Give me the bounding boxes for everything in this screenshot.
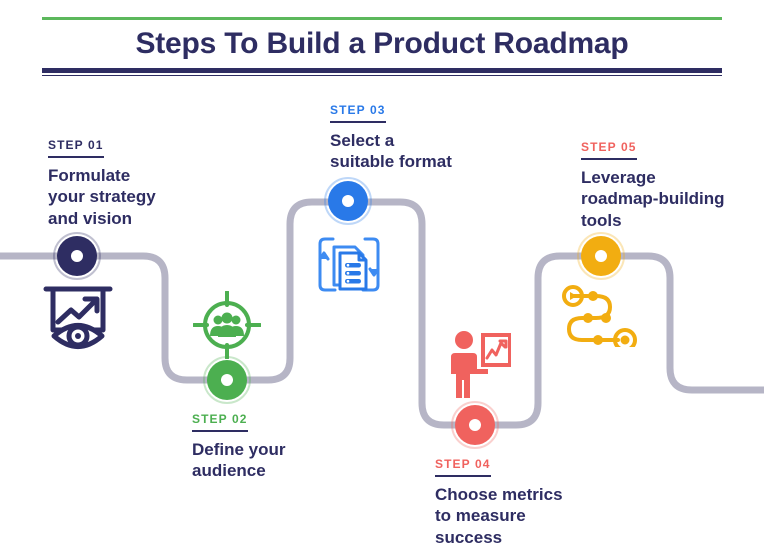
step-02-title: Define your audience <box>192 439 332 482</box>
step-01-node-ring <box>53 232 101 280</box>
step-01-title: Formulate your strategy and vision <box>48 165 178 229</box>
step-05-text-block: STEP 05 Leverage roadmap-building tools <box>581 140 751 231</box>
person-metrics-chart-icon <box>447 330 511 402</box>
step-02-node-ring <box>203 356 251 404</box>
step-04-text-block: STEP 04 Choose metrics to measure succes… <box>435 457 595 548</box>
step-02-kicker: STEP 02 <box>192 412 332 426</box>
step-03-kicker: STEP 03 <box>330 103 490 117</box>
step-02-text-block: STEP 02 Define your audience <box>192 412 332 482</box>
step-03-node[interactable] <box>328 181 368 221</box>
step-01-text-block: STEP 01 Formulate your strategy and visi… <box>48 138 178 229</box>
roadmap-path-tools-icon <box>562 285 642 347</box>
step-03-text-block: STEP 03 Select a suitable format <box>330 103 490 173</box>
step-02-node[interactable] <box>207 360 247 400</box>
step-04-kicker: STEP 04 <box>435 457 595 471</box>
step-05-kicker-underline <box>581 158 637 160</box>
step-01-kicker-underline <box>48 156 104 158</box>
documents-format-cycle-icon <box>315 233 383 301</box>
step-04-kicker-underline <box>435 475 491 477</box>
step-03-title: Select a suitable format <box>330 130 490 173</box>
infographic-canvas: Steps To Build a Product Roadmap STEP 01… <box>0 0 764 549</box>
step-03-node-ring <box>324 177 372 225</box>
step-02-kicker-underline <box>192 430 248 432</box>
step-03-kicker-underline <box>330 121 386 123</box>
step-05-title: Leverage roadmap-building tools <box>581 167 751 231</box>
step-05-node[interactable] <box>581 236 621 276</box>
step-05-node-ring <box>577 232 625 280</box>
step-01-kicker: STEP 01 <box>48 138 178 152</box>
step-04-node-ring <box>451 401 499 449</box>
vision-chart-eye-icon <box>40 284 116 350</box>
step-01-node[interactable] <box>57 236 97 276</box>
audience-target-people-icon <box>193 291 261 359</box>
step-04-title: Choose metrics to measure success <box>435 484 595 548</box>
step-04-node[interactable] <box>455 405 495 445</box>
step-05-kicker: STEP 05 <box>581 140 751 154</box>
